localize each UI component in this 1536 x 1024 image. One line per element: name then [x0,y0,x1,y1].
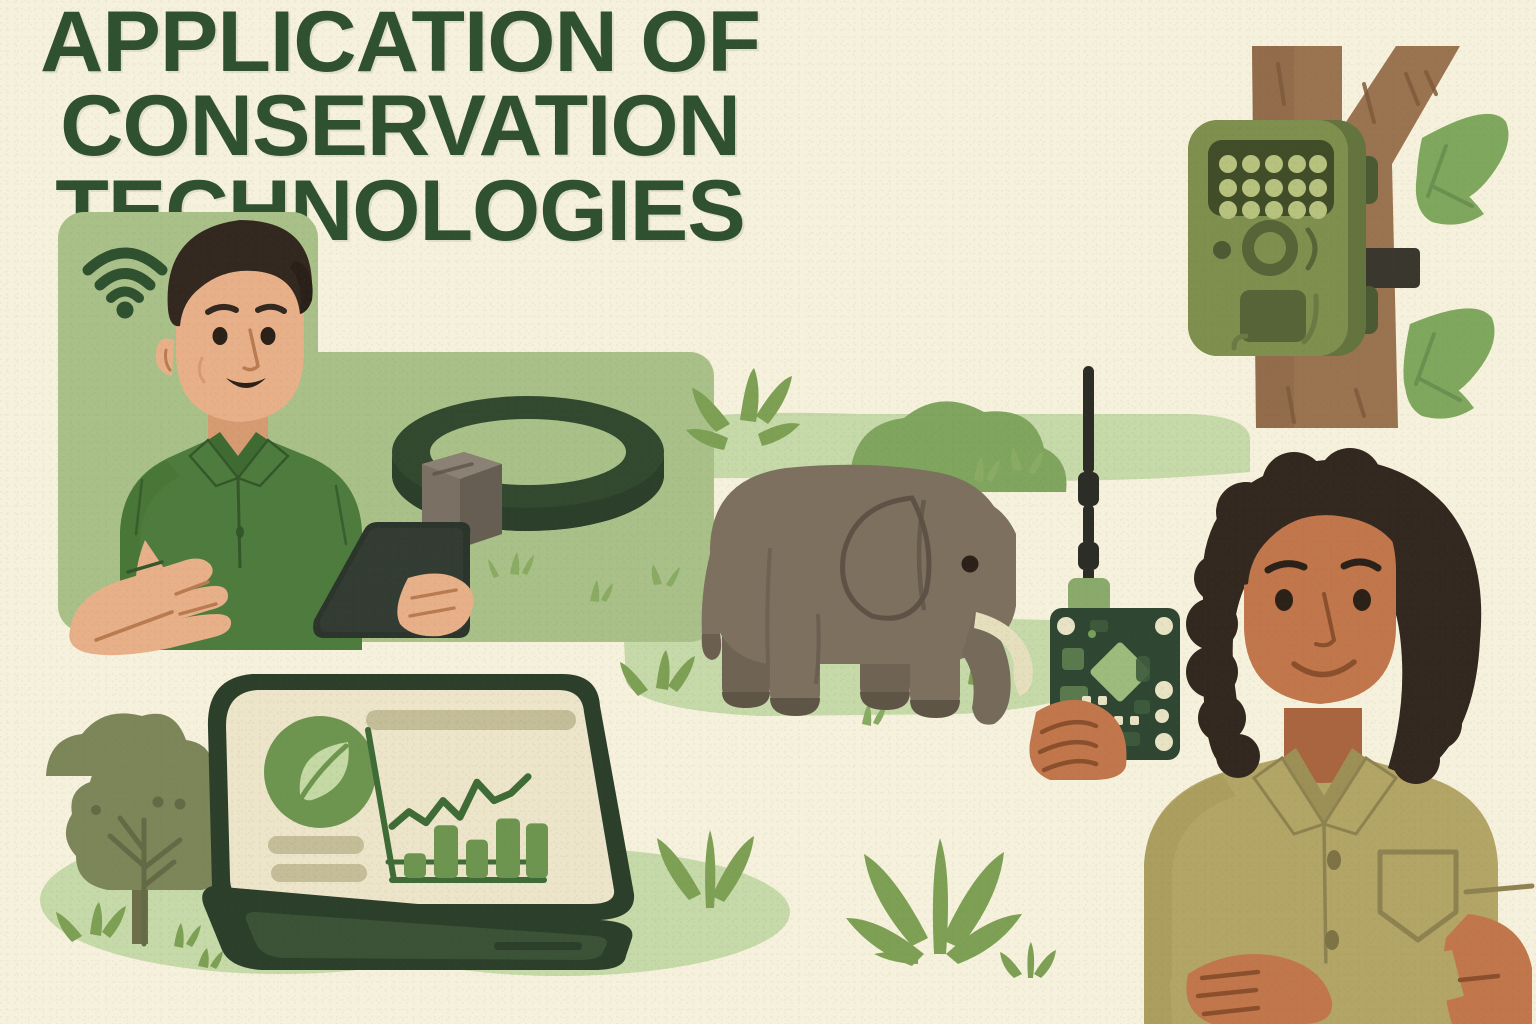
grass-tuft [686,368,800,450]
leaf-logo [264,716,376,828]
trail-camera-body [1188,120,1366,356]
leaf-cluster-upper [1416,114,1509,225]
tablet-device[interactable] [300,516,490,656]
placeholder-bar-2 [271,864,367,882]
conservation-technologies-poster: APPLICATION OF CONSERVATION TECHNOLOGIES [0,0,1536,1024]
placeholder-bar-title [366,710,576,730]
placeholder-bar-1 [268,836,364,854]
sensor-board-assembly[interactable] [1030,360,1230,780]
antenna [1078,366,1099,590]
status-indicator-light [1213,241,1231,259]
mounting-strap [1358,248,1420,288]
laptop-dashboard[interactable] [196,654,776,984]
motion-sensor-window [1240,290,1306,342]
